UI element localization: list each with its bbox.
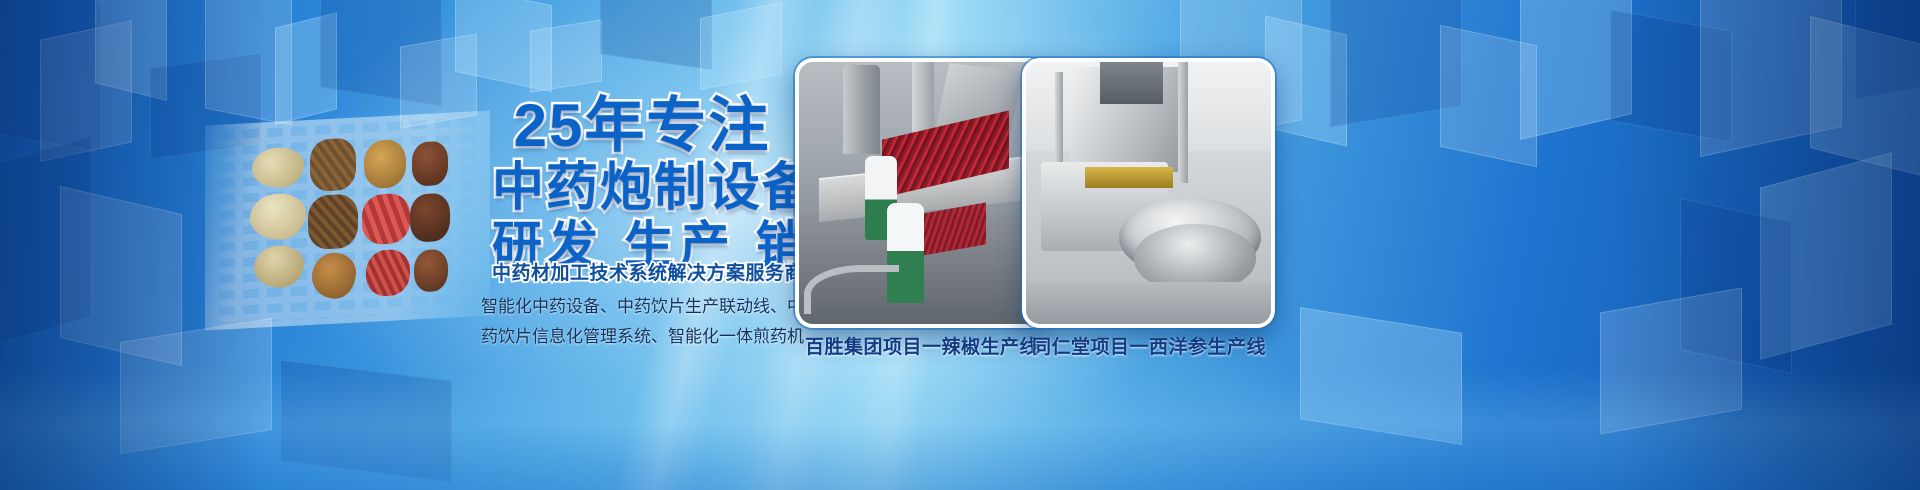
headline-block: 25年专注 中药炮制设备 研发 生产 销售	[492, 96, 792, 270]
tagline: 中药材加工技术系统解决方案服务商	[492, 258, 792, 285]
project-photo-ginseng-line[interactable]	[1022, 58, 1275, 328]
ginseng-line-photo	[1026, 62, 1271, 324]
herb-photos-decoration	[248, 127, 448, 317]
project-photo-chilli-line[interactable]	[795, 58, 1048, 328]
headline-line-2: 中药炮制设备	[492, 162, 792, 214]
caption-ginseng-line: 同仁堂项目一西洋参生产线	[1032, 332, 1262, 359]
description-line-2: 药饮片信息化管理系统、智能化一体煎药机	[470, 322, 815, 352]
description-block: 智能化中药设备、中药饮片生产联动线、中 药饮片信息化管理系统、智能化一体煎药机	[470, 292, 815, 352]
chilli-line-photo	[799, 62, 1044, 324]
caption-chilli-line: 百胜集团项目一辣椒生产线	[805, 332, 1035, 359]
promo-banner: 25年专注 中药炮制设备 研发 生产 销售 中药材加工技术系统解决方案服务商 智…	[0, 0, 1920, 490]
headline-line-1: 25年专注	[492, 96, 792, 156]
description-line-1: 智能化中药设备、中药饮片生产联动线、中	[470, 292, 815, 322]
